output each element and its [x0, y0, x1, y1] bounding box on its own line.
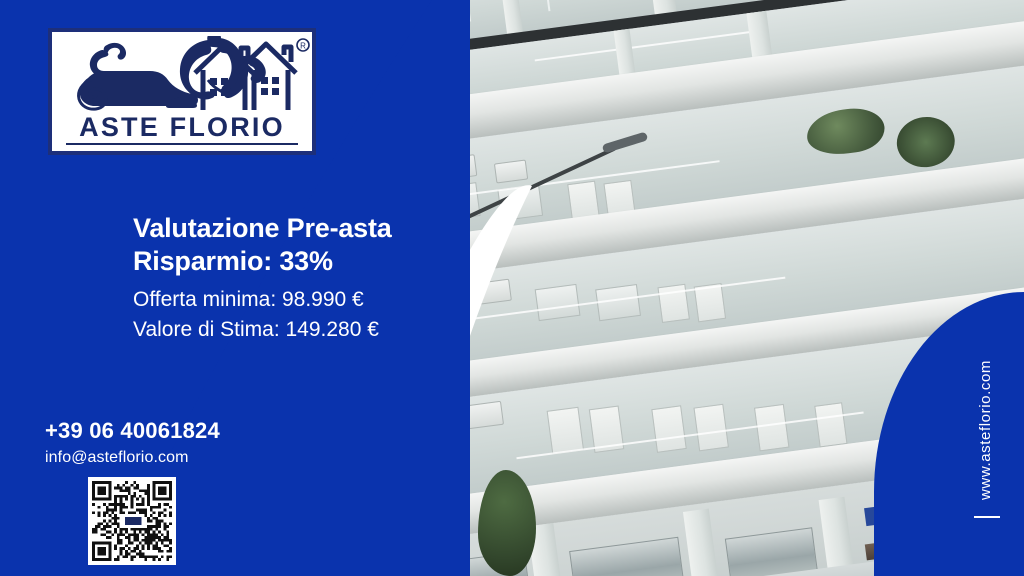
phone-number[interactable]: +39 06 40061824	[45, 418, 220, 444]
logo-artwork: R	[58, 36, 312, 114]
website-url-vertical[interactable]: www.asteflorio.com	[977, 360, 994, 500]
offer-headline-block: Valutazione Pre-asta Risparmio: 33% Offe…	[133, 212, 463, 344]
two-houses-icon	[195, 44, 296, 110]
svg-text:R: R	[300, 42, 306, 51]
url-tick-mark	[974, 516, 1000, 518]
minimum-offer-line: Offerta minima: 98.990 €	[133, 286, 463, 314]
qr-code[interactable]	[88, 477, 176, 565]
logo-wordmark: ASTE FLORIO	[52, 112, 312, 143]
contact-block: +39 06 40061824 info@asteflorio.com	[45, 418, 220, 467]
headline-line-2: Risparmio: 33%	[133, 245, 463, 278]
brand-logo[interactable]: R ASTE FLORIO	[48, 28, 316, 155]
email-address[interactable]: info@asteflorio.com	[45, 449, 220, 467]
estimated-value-line: Valore di Stima: 149.280 €	[133, 316, 463, 344]
logo-underline	[66, 143, 298, 145]
flyer-canvas: R ASTE FLORIO Valutazione Pre-asta Rispa…	[0, 0, 1024, 576]
headline-line-1: Valutazione Pre-asta	[133, 212, 463, 245]
qr-code-canvas[interactable]	[92, 481, 172, 561]
